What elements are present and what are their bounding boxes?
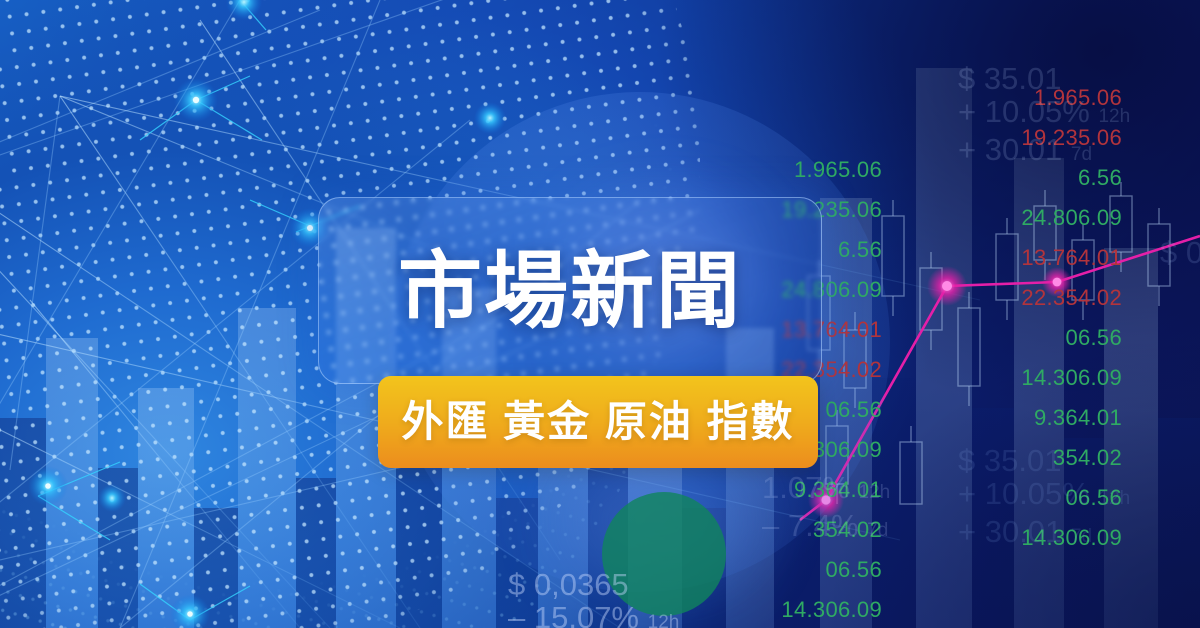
ticker-value: 22.354.02 [1021, 278, 1122, 318]
price-period-7d: 7d [867, 520, 888, 541]
price-period-12h: 12h [859, 482, 891, 503]
price-change-7d: + 30.01 [958, 132, 1062, 167]
price-block-bottom-right: $ 35.01 + 10.05% 12h + 30.01 7d [958, 444, 1130, 553]
subtitle-pill-button[interactable]: 外匯 黃金 原油 指數 [378, 376, 818, 468]
price-change-7d: – 7.4% [762, 508, 859, 543]
price-value: $ 0 [1160, 236, 1200, 269]
price-period-7d: 7d [1071, 526, 1092, 547]
price-period-12h: 12h [1098, 488, 1130, 509]
price-block-top-right: $ 35.01 + 10.05% 12h + 30.01 7d [958, 62, 1130, 171]
ticker-value: 9.364.01 [1021, 398, 1122, 438]
subtitle-label: 外匯 黃金 原油 指數 [401, 401, 794, 443]
ticker-value: 14.306.09 [1021, 358, 1122, 398]
price-period-12h: 12h [1098, 106, 1130, 127]
page-title: 市場新聞 [398, 249, 742, 333]
price-period-7d: 7d [1071, 144, 1092, 165]
price-change-12h: + 10.05% [958, 94, 1090, 129]
ticker-value: 13.764.01 [1021, 238, 1122, 278]
price-block-right-edge: $ 0 [1160, 236, 1200, 269]
market-news-banner: 1.965.06 19.235.06 6.56 24.806.09 13.764… [0, 0, 1200, 628]
ticker-value: 06.56 [781, 550, 882, 590]
price-change-7d: + 30.01 [958, 514, 1062, 549]
price-block-bottom-left: $ 0,0365 – 15.07% 12h – 42.4% 7d [508, 568, 679, 628]
ticker-value: 14.306.09 [781, 590, 882, 628]
price-change-12h: 1.07% [762, 470, 850, 505]
price-change-12h: – 15.07% [508, 600, 639, 628]
ticker-value: 1.965.06 [781, 150, 882, 190]
ticker-value: 06.56 [1021, 318, 1122, 358]
price-value: $ 35.01 [958, 62, 1130, 95]
title-card: 市場新聞 [318, 197, 822, 384]
price-change-12h: + 10.05% [958, 476, 1090, 511]
price-value: $ 35.01 [958, 444, 1130, 477]
price-value: $ 0,0365 [508, 568, 679, 601]
price-period-12h: 12h [648, 612, 680, 628]
ticker-value: 24.806.09 [1021, 198, 1122, 238]
